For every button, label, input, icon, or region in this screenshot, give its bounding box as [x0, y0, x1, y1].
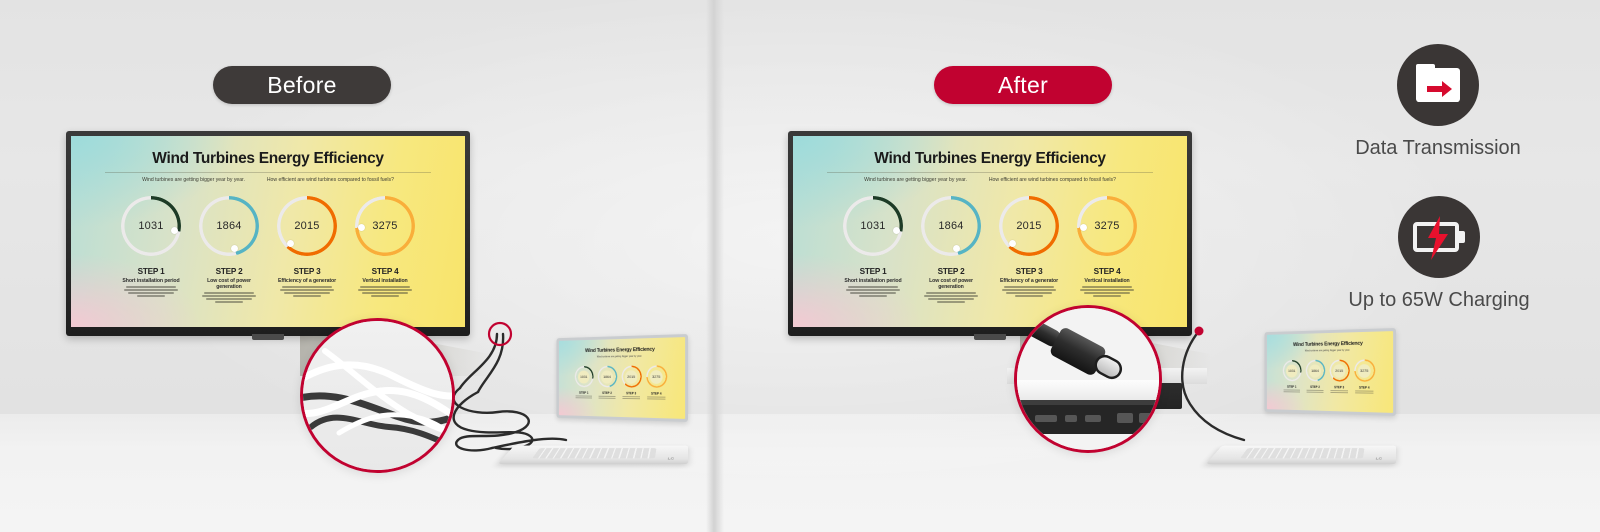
- donut-chart: 3275: [1077, 196, 1137, 256]
- donut-center: 2015: [1010, 207, 1048, 245]
- monitor-screen: Wind Turbines Energy Efficiency Wind tur…: [71, 136, 465, 327]
- step-item: STEP 2Low cost of power generation: [921, 267, 981, 304]
- step-heading: STEP 3: [999, 267, 1059, 276]
- laptop-step-list: STEP 1STEP 2STEP 3STEP 4: [559, 391, 685, 401]
- step-heading: STEP 2: [597, 391, 616, 395]
- donut-value: 3275: [652, 374, 660, 379]
- donut-center: 2015: [1333, 364, 1345, 377]
- slide-title: Wind Turbines Energy Efficiency: [89, 150, 447, 168]
- step-description: Efficiency of a generator: [999, 278, 1059, 284]
- magnifier-tangled-cables: [300, 318, 455, 473]
- step-heading: STEP 1: [1282, 385, 1301, 389]
- folder-arrow-icon: [1416, 68, 1460, 102]
- magnifier-usb-c-connector: [1014, 305, 1162, 453]
- step-heading: STEP 2: [1305, 385, 1324, 389]
- laptop-donut-group: 1031186420153275: [1267, 359, 1393, 382]
- donut-chart-group: 1031186420153275: [89, 196, 447, 256]
- step-body-text: [1077, 286, 1137, 297]
- laptop-lid: Wind Turbines Energy Efficiency Wind tur…: [557, 334, 688, 422]
- donut-center: 1031: [854, 207, 892, 245]
- slide-subtitle-left: Wind turbines are getting bigger year by…: [142, 177, 245, 183]
- donut-value: 1031: [580, 374, 587, 379]
- step-list: STEP 1Short installation periodSTEP 2Low…: [89, 267, 447, 304]
- donut-chart: 1031: [843, 196, 903, 256]
- step-heading: STEP 1: [121, 267, 181, 276]
- donut-center: 1864: [210, 207, 248, 245]
- lightning-bolt-icon: [1425, 216, 1451, 260]
- donut-chart: 2015: [999, 196, 1059, 256]
- step-heading: STEP 2: [921, 267, 981, 276]
- donut-chart: 3275: [355, 196, 415, 256]
- laptop-slide-title: Wind Turbines Energy Efficiency: [1267, 340, 1393, 348]
- laptop-keyboard: [533, 448, 657, 458]
- slide-rule: [827, 172, 1153, 173]
- step-list: STEP 1Short installation periodSTEP 2Low…: [811, 267, 1169, 304]
- donut-endpoint-marker: [171, 227, 178, 234]
- feature-label: Data Transmission: [1352, 137, 1524, 160]
- donut-chart: 1031: [574, 366, 593, 387]
- laptop-before: Wind Turbines Energy Efficiency Wind tur…: [498, 334, 688, 464]
- step-heading: STEP 1: [843, 267, 903, 276]
- slide-content: Wind Turbines Energy Efficiency Wind tur…: [71, 136, 465, 327]
- step-description: Vertical installation: [1077, 278, 1137, 284]
- slide-subtitle-right: How efficient are wind turbines compared…: [267, 177, 394, 183]
- donut-value: 1031: [138, 220, 163, 232]
- step-heading: STEP 4: [1354, 386, 1375, 390]
- donut-chart: 1864: [1305, 360, 1324, 382]
- step-item: STEP 4Vertical installation: [1077, 267, 1137, 304]
- donut-endpoint-marker: [893, 227, 900, 234]
- step-body-text: [277, 286, 337, 297]
- step-description: Low cost of power generation: [921, 278, 981, 290]
- slide-subtitle: Wind turbines are getting bigger year by…: [811, 177, 1169, 183]
- step-heading: STEP 4: [1077, 267, 1137, 276]
- donut-center: 3275: [1088, 207, 1126, 245]
- feature-charging: Up to 65W Charging: [1344, 196, 1534, 312]
- magnifier-content: [1017, 308, 1159, 450]
- badge-after-label: After: [998, 72, 1048, 99]
- donut-center: 1864: [1309, 364, 1321, 377]
- laptop-keyboard: [1241, 448, 1365, 458]
- step-body-text: [355, 286, 415, 297]
- slide-content: Wind Turbines Energy Efficiency Wind tur…: [793, 136, 1187, 327]
- tangled-cable-illustration: [303, 321, 455, 473]
- step-body-text: [843, 286, 903, 297]
- step-heading: STEP 3: [277, 267, 337, 276]
- step-description: Efficiency of a generator: [277, 278, 337, 284]
- donut-center: 2015: [625, 370, 637, 383]
- donut-value: 2015: [1016, 220, 1041, 232]
- battery-cap: [1459, 231, 1465, 243]
- donut-chart: 1864: [597, 366, 616, 388]
- step-item: STEP 1Short installation period: [843, 267, 903, 304]
- donut-center: 2015: [288, 207, 326, 245]
- donut-value: 1864: [603, 374, 611, 379]
- donut-value: 2015: [1335, 368, 1343, 373]
- feature-label: Up to 65W Charging: [1344, 289, 1534, 312]
- donut-chart: 1864: [921, 196, 981, 256]
- step-heading: STEP 4: [355, 267, 415, 276]
- donut-chart: 1031: [121, 196, 181, 256]
- donut-endpoint-marker: [1080, 224, 1087, 231]
- laptop-step-list: STEP 1STEP 2STEP 3STEP 4: [1267, 385, 1393, 395]
- step-body-text: [121, 286, 181, 297]
- donut-center: 1031: [132, 207, 170, 245]
- feature-data-transmission: Data Transmission: [1352, 44, 1524, 160]
- step-item: STEP 3Efficiency of a generator: [999, 267, 1059, 304]
- step-item: STEP 1Short installation period: [121, 267, 181, 304]
- laptop-slide-subtitle: Wind turbines are getting bigger year by…: [559, 354, 685, 359]
- step-body-text: [199, 292, 259, 303]
- laptop-lid: Wind Turbines Energy Efficiency Wind tur…: [1265, 328, 1396, 416]
- donut-value: 3275: [372, 220, 397, 232]
- donut-value: 3275: [1094, 220, 1119, 232]
- donut-chart: 2015: [1329, 359, 1349, 381]
- donut-value: 1031: [860, 220, 885, 232]
- step-item: STEP 2: [1305, 385, 1324, 394]
- comparison-graphic: Before After Wind Turbines Energy Effici…: [0, 0, 1600, 532]
- step-item: STEP 1: [1282, 385, 1301, 394]
- step-item: STEP 4: [646, 392, 667, 401]
- battery-bolt-icon: [1413, 222, 1465, 252]
- laptop-base: LG: [1206, 446, 1396, 464]
- donut-value: 1864: [216, 220, 241, 232]
- donut-center: 1031: [1286, 364, 1297, 377]
- step-description: Short installation period: [843, 278, 903, 284]
- feature-icon-circle: [1397, 44, 1479, 126]
- badge-after: After: [934, 66, 1112, 104]
- slide-subtitle-right: How efficient are wind turbines compared…: [989, 177, 1116, 183]
- donut-value: 1864: [1311, 368, 1319, 373]
- donut-value: 1864: [938, 220, 963, 232]
- step-heading: STEP 3: [621, 391, 641, 395]
- donut-center: 1864: [601, 370, 613, 383]
- laptop-base: LG: [498, 446, 688, 464]
- step-item: STEP 3: [621, 391, 641, 400]
- step-description: Low cost of power generation: [199, 278, 259, 290]
- donut-center: 1864: [932, 207, 970, 245]
- step-item: STEP 3: [1329, 385, 1349, 394]
- donut-chart: 1864: [199, 196, 259, 256]
- step-item: STEP 1: [574, 391, 593, 400]
- laptop-slide-title: Wind Turbines Energy Efficiency: [559, 346, 685, 354]
- badge-before: Before: [213, 66, 391, 104]
- donut-value: 2015: [294, 220, 319, 232]
- step-item: STEP 3Efficiency of a generator: [277, 267, 337, 304]
- step-heading: STEP 1: [574, 391, 593, 395]
- donut-chart: 1031: [1282, 360, 1301, 381]
- step-description: Vertical installation: [355, 278, 415, 284]
- step-heading: STEP 3: [1329, 385, 1349, 389]
- slide-rule: [105, 172, 431, 173]
- laptop-donut-group: 1031186420153275: [559, 365, 685, 388]
- donut-value: 2015: [627, 374, 635, 379]
- slide-title: Wind Turbines Energy Efficiency: [811, 150, 1169, 168]
- slide-subtitle: Wind turbines are getting bigger year by…: [89, 177, 447, 183]
- step-item: STEP 2Low cost of power generation: [199, 267, 259, 304]
- donut-center: 3275: [366, 207, 404, 245]
- donut-endpoint-marker: [358, 224, 365, 231]
- donut-chart: 2015: [277, 196, 337, 256]
- step-item: STEP 4Vertical installation: [355, 267, 415, 304]
- laptop-screen: Wind Turbines Energy Efficiency Wind tur…: [1267, 331, 1393, 413]
- usb-c-connector-illustration: [1017, 308, 1162, 453]
- monitor-before: Wind Turbines Energy Efficiency Wind tur…: [66, 131, 470, 336]
- laptop-brand-logo: LG: [667, 457, 674, 460]
- step-heading: STEP 4: [646, 392, 667, 396]
- monitor-foot: [252, 334, 284, 340]
- donut-chart: 3275: [646, 365, 667, 388]
- laptop-slide-subtitle: Wind turbines are getting bigger year by…: [1267, 348, 1393, 353]
- laptop-brand-logo: LG: [1375, 457, 1382, 460]
- monitor-screen: Wind Turbines Energy Efficiency Wind tur…: [793, 136, 1187, 327]
- magnifier-content: [303, 321, 452, 470]
- step-description: Short installation period: [121, 278, 181, 284]
- monitor-after: Wind Turbines Energy Efficiency Wind tur…: [788, 131, 1192, 336]
- arrow-right-icon: [1427, 80, 1453, 98]
- step-body-text: [921, 292, 981, 303]
- donut-chart-group: 1031186420153275: [811, 196, 1169, 256]
- donut-chart: 2015: [621, 365, 641, 387]
- donut-center: 3275: [650, 370, 663, 384]
- donut-value: 1031: [1288, 368, 1295, 373]
- step-heading: STEP 2: [199, 267, 259, 276]
- donut-center: 1031: [578, 370, 589, 383]
- panel-divider: [706, 0, 724, 532]
- laptop-after: Wind Turbines Energy Efficiency Wind tur…: [1206, 328, 1396, 464]
- badge-before-label: Before: [267, 72, 337, 99]
- donut-value: 3275: [1360, 368, 1368, 373]
- step-item: STEP 2: [597, 391, 616, 400]
- feature-icon-circle: [1398, 196, 1480, 278]
- donut-chart: 3275: [1354, 359, 1375, 382]
- laptop-screen: Wind Turbines Energy Efficiency Wind tur…: [559, 337, 685, 419]
- slide-subtitle-left: Wind turbines are getting bigger year by…: [864, 177, 967, 183]
- monitor-foot: [974, 334, 1006, 340]
- donut-center: 3275: [1358, 364, 1371, 378]
- step-item: STEP 4: [1354, 386, 1375, 395]
- step-body-text: [999, 286, 1059, 297]
